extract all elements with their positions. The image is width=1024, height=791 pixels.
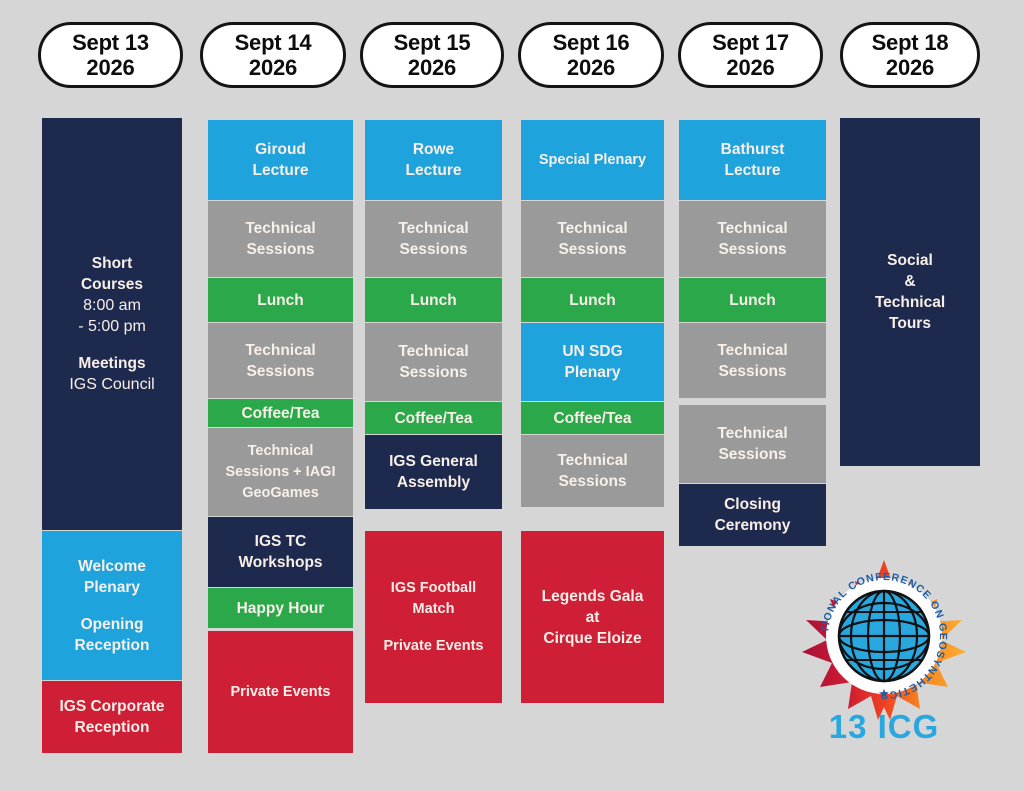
event-block-label: Welcome: [78, 556, 146, 577]
event-block-label: Sessions: [399, 239, 467, 260]
event-block-label: Lunch: [569, 290, 616, 311]
event-block-label: Sessions: [558, 239, 626, 260]
event-block-label: Technical: [398, 341, 468, 362]
event-block-label: Match: [413, 599, 455, 620]
event-block-label: Coffee/Tea: [553, 408, 631, 429]
event-block-technical-sessions-morning[interactable]: TechnicalSessions: [208, 201, 353, 277]
globe-icon: [839, 591, 929, 681]
event-block-igs-tc-workshops[interactable]: IGS TCWorkshops: [208, 517, 353, 587]
event-block-label: at: [586, 607, 600, 628]
event-block-label: Sessions: [246, 361, 314, 382]
event-block-label: IGS Corporate: [59, 696, 164, 717]
event-block-label: GeoGames: [242, 483, 319, 504]
event-block-label: Reception: [75, 717, 150, 738]
event-block-label: Social: [887, 250, 933, 271]
event-block-label: Sessions: [718, 361, 786, 382]
event-block-label: Rowe: [413, 139, 454, 160]
event-block-label: IGS TC: [255, 531, 307, 552]
event-block-label: Technical: [557, 450, 627, 471]
logo-wordmark: 13 ICG: [829, 708, 940, 744]
event-block-igs-corporate-reception[interactable]: IGS CorporateReception: [42, 681, 182, 753]
event-block-coffee-tea[interactable]: Coffee/Tea: [365, 402, 502, 434]
event-block-technical-sessions-morning[interactable]: TechnicalSessions: [365, 201, 502, 277]
event-block-label: IGS Football: [391, 578, 476, 599]
event-block-label: Technical: [875, 292, 945, 313]
event-block-label: Special Plenary: [539, 150, 646, 171]
day-column-2: GiroudLectureTechnicalSessionsLunchTechn…: [208, 0, 353, 791]
event-block-label: Bathurst: [721, 139, 785, 160]
event-block-lunch[interactable]: Lunch: [365, 278, 502, 322]
event-block-technical-sessions-afternoon[interactable]: TechnicalSessions: [679, 323, 826, 398]
event-block-label: Coffee/Tea: [394, 408, 472, 429]
event-block-label: Plenary: [564, 362, 620, 383]
event-block-label: 8:00 am: [83, 295, 141, 316]
event-block-technical-sessions-morning[interactable]: TechnicalSessions: [679, 201, 826, 277]
event-block-technical-sessions-afternoon[interactable]: TechnicalSessions: [208, 323, 353, 398]
event-block-coffee-tea[interactable]: Coffee/Tea: [208, 399, 353, 427]
event-block-label: Giroud: [255, 139, 306, 160]
event-block-technical-sessions-morning[interactable]: TechnicalSessions: [521, 201, 664, 277]
event-block-label: Meetings: [78, 353, 145, 374]
event-block-special-plenary[interactable]: Special Plenary: [521, 120, 664, 200]
event-block-lunch[interactable]: Lunch: [679, 278, 826, 322]
event-block-label: Coffee/Tea: [241, 403, 319, 424]
event-block-label: Technical: [717, 218, 787, 239]
event-block-technical-sessions-late[interactable]: TechnicalSessions: [679, 405, 826, 483]
event-block-label: Lecture: [725, 160, 781, 181]
event-block-label: &: [904, 271, 915, 292]
event-block-label: Lunch: [410, 290, 457, 311]
event-block-label: Closing: [724, 494, 781, 515]
event-block-label: Technical: [398, 218, 468, 239]
event-block-label: - 5:00 pm: [78, 316, 146, 337]
event-block-label: Courses: [81, 274, 143, 295]
event-block-label: Workshops: [238, 552, 322, 573]
event-block-label: Opening: [81, 614, 144, 635]
event-block-label: Sessions: [399, 362, 467, 383]
event-block-label: Reception: [75, 635, 150, 656]
event-block-welcome-plenary-opening-reception[interactable]: WelcomePlenaryOpeningReception: [42, 531, 182, 680]
event-block-label: Ceremony: [715, 515, 791, 536]
event-block-technical-sessions-late[interactable]: TechnicalSessions: [521, 435, 664, 507]
event-block-happy-hour[interactable]: Happy Hour: [208, 588, 353, 628]
13-icg-conference-logo: 13TH INTERNATIONAL CONFERENCE ON GEOSYNT…: [798, 552, 970, 744]
event-block-social-technical-tours[interactable]: Social&TechnicalTours: [840, 118, 980, 466]
event-block-bathurst-lecture[interactable]: BathurstLecture: [679, 120, 826, 200]
event-block-coffee-tea[interactable]: Coffee/Tea: [521, 402, 664, 434]
event-block-label: Assembly: [397, 472, 470, 493]
event-block-lunch[interactable]: Lunch: [208, 278, 353, 322]
event-block-label: Legends Gala: [542, 586, 644, 607]
event-block-igs-general-assembly[interactable]: IGS GeneralAssembly: [365, 435, 502, 509]
event-block-label: Lecture: [253, 160, 309, 181]
event-block-igs-football-match-private-events[interactable]: IGS FootballMatchPrivate Events: [365, 531, 502, 703]
event-block-giroud-lecture[interactable]: GiroudLecture: [208, 120, 353, 200]
event-block-private-events[interactable]: Private Events: [208, 631, 353, 753]
event-block-label: Technical: [557, 218, 627, 239]
event-block-technical-sessions-afternoon[interactable]: TechnicalSessions: [365, 323, 502, 401]
event-block-label: Sessions: [558, 471, 626, 492]
event-block-rowe-lecture[interactable]: RoweLecture: [365, 120, 502, 200]
event-block-label: Technical: [717, 423, 787, 444]
event-block-label: Technical: [717, 340, 787, 361]
event-block-label: IGS General: [389, 451, 478, 472]
event-block-technical-sessions-iagi-geogames[interactable]: TechnicalSessions + IAGIGeoGames: [208, 428, 353, 516]
event-block-label: Happy Hour: [237, 598, 325, 619]
event-block-label: Lunch: [729, 290, 776, 311]
event-block-label: Plenary: [84, 577, 140, 598]
event-block-label: Technical: [245, 218, 315, 239]
event-block-lunch[interactable]: Lunch: [521, 278, 664, 322]
day-column-3: RoweLectureTechnicalSessionsLunchTechnic…: [365, 0, 502, 791]
day-column-4: Special PlenaryTechnicalSessionsLunchUN …: [521, 0, 664, 791]
event-block-label: IGS Council: [69, 374, 154, 395]
event-block-short-courses-meetings[interactable]: ShortCourses8:00 am- 5:00 pmMeetingsIGS …: [42, 118, 182, 530]
event-block-label: Short: [92, 253, 132, 274]
event-block-legends-gala-at-cirque-eloize[interactable]: Legends GalaatCirque Eloize: [521, 531, 664, 703]
event-block-closing-ceremony[interactable]: ClosingCeremony: [679, 484, 826, 546]
event-block-label: Private Events: [231, 682, 331, 703]
event-block-label: Sessions: [718, 239, 786, 260]
event-block-label: Lecture: [406, 160, 462, 181]
event-block-label: Cirque Eloize: [543, 628, 641, 649]
event-block-label: Sessions: [718, 444, 786, 465]
event-block-un-sdg-plenary[interactable]: UN SDGPlenary: [521, 323, 664, 401]
event-block-label: Sessions: [246, 239, 314, 260]
logo-star-icon: ★: [878, 686, 890, 701]
event-block-label: Technical: [248, 441, 314, 462]
day-column-1: ShortCourses8:00 am- 5:00 pmMeetingsIGS …: [42, 0, 182, 791]
event-block-label: Lunch: [257, 290, 304, 311]
event-block-label: Technical: [245, 340, 315, 361]
event-block-label: Private Events: [384, 636, 484, 657]
event-block-label: UN SDG: [562, 341, 622, 362]
event-block-label: Sessions + IAGI: [225, 462, 335, 483]
event-block-label: Tours: [889, 313, 931, 334]
